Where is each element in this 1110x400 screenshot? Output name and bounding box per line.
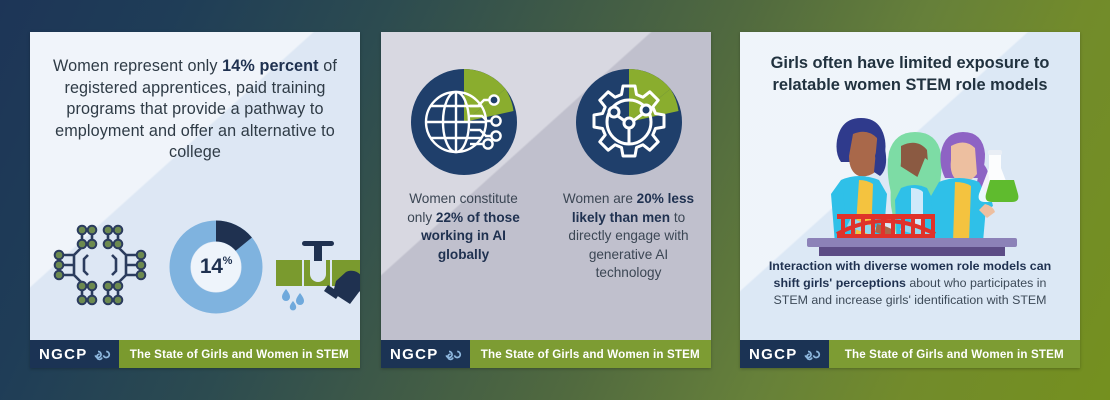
card2-column-gear: Women are 20% less likely than men to di… [546, 66, 711, 283]
card2-cap2-a: Women are [563, 191, 637, 206]
card1-footer: NGCP The State of Girls and Women in STE… [30, 340, 360, 368]
card3-tagline: The State of Girls and Women in STEM [829, 340, 1080, 368]
card2-body: Women constitute only 22% of those worki… [381, 32, 711, 340]
card3-footer: NGCP The State of Girls and Women in STE… [740, 340, 1080, 368]
card3-body: Girls often have limited exposure to rel… [740, 32, 1080, 340]
card2-footer: NGCP The State of Girls and Women in STE… [381, 340, 711, 368]
gear-ai-icon [573, 66, 685, 178]
three-girls-stem-lab-illustration [785, 106, 1035, 256]
infographic-root: Women represent only 14% percent of regi… [0, 0, 1110, 400]
card1-text-b: 14% percent [222, 57, 318, 75]
triple-spiral-icon [802, 345, 822, 363]
ngcp-wordmark: NGCP [390, 346, 439, 363]
card2-columns: Women constitute only 22% of those worki… [381, 66, 711, 283]
card3-heading: Girls often have limited exposure to rel… [756, 52, 1064, 96]
circuit-chip-icon [52, 217, 148, 313]
card-role-models: Girls often have limited exposure to rel… [740, 32, 1080, 368]
ngcp-logo[interactable]: NGCP [30, 340, 119, 368]
card1-text-a: Women represent only [53, 57, 222, 75]
card-apprenticeships: Women represent only 14% percent of regi… [30, 32, 360, 368]
card1-icon-row: 14% [30, 217, 360, 327]
ngcp-logo[interactable]: NGCP [381, 340, 470, 368]
card2-caption-gear: Women are 20% less likely than men to di… [561, 190, 696, 283]
globe-network-ai-icon [408, 66, 520, 178]
donut-percent-sign: % [223, 255, 232, 267]
card3-footnote: Interaction with diverse women role mode… [762, 258, 1058, 309]
ngcp-logo[interactable]: NGCP [740, 340, 829, 368]
card1-statement: Women represent only 14% percent of regi… [44, 56, 346, 164]
donut-center-label: 14% [166, 217, 266, 317]
card2-caption-globe: Women constitute only 22% of those worki… [396, 190, 531, 264]
card-women-in-ai: Women constitute only 22% of those worki… [381, 32, 711, 368]
ngcp-wordmark: NGCP [749, 346, 798, 363]
card2-cap1-b: 22% of those working in AI globally [421, 210, 520, 262]
card2-tagline: The State of Girls and Women in STEM [470, 340, 711, 368]
donut-value: 14 [200, 255, 223, 279]
triple-spiral-icon [443, 345, 463, 363]
card2-column-globe: Women constitute only 22% of those worki… [381, 66, 546, 283]
card1-body: Women represent only 14% percent of regi… [30, 32, 360, 340]
card1-tagline: The State of Girls and Women in STEM [119, 340, 360, 368]
pipe-wrench-plumbing-icon [274, 233, 360, 315]
ngcp-wordmark: NGCP [39, 346, 88, 363]
triple-spiral-icon [92, 345, 112, 363]
